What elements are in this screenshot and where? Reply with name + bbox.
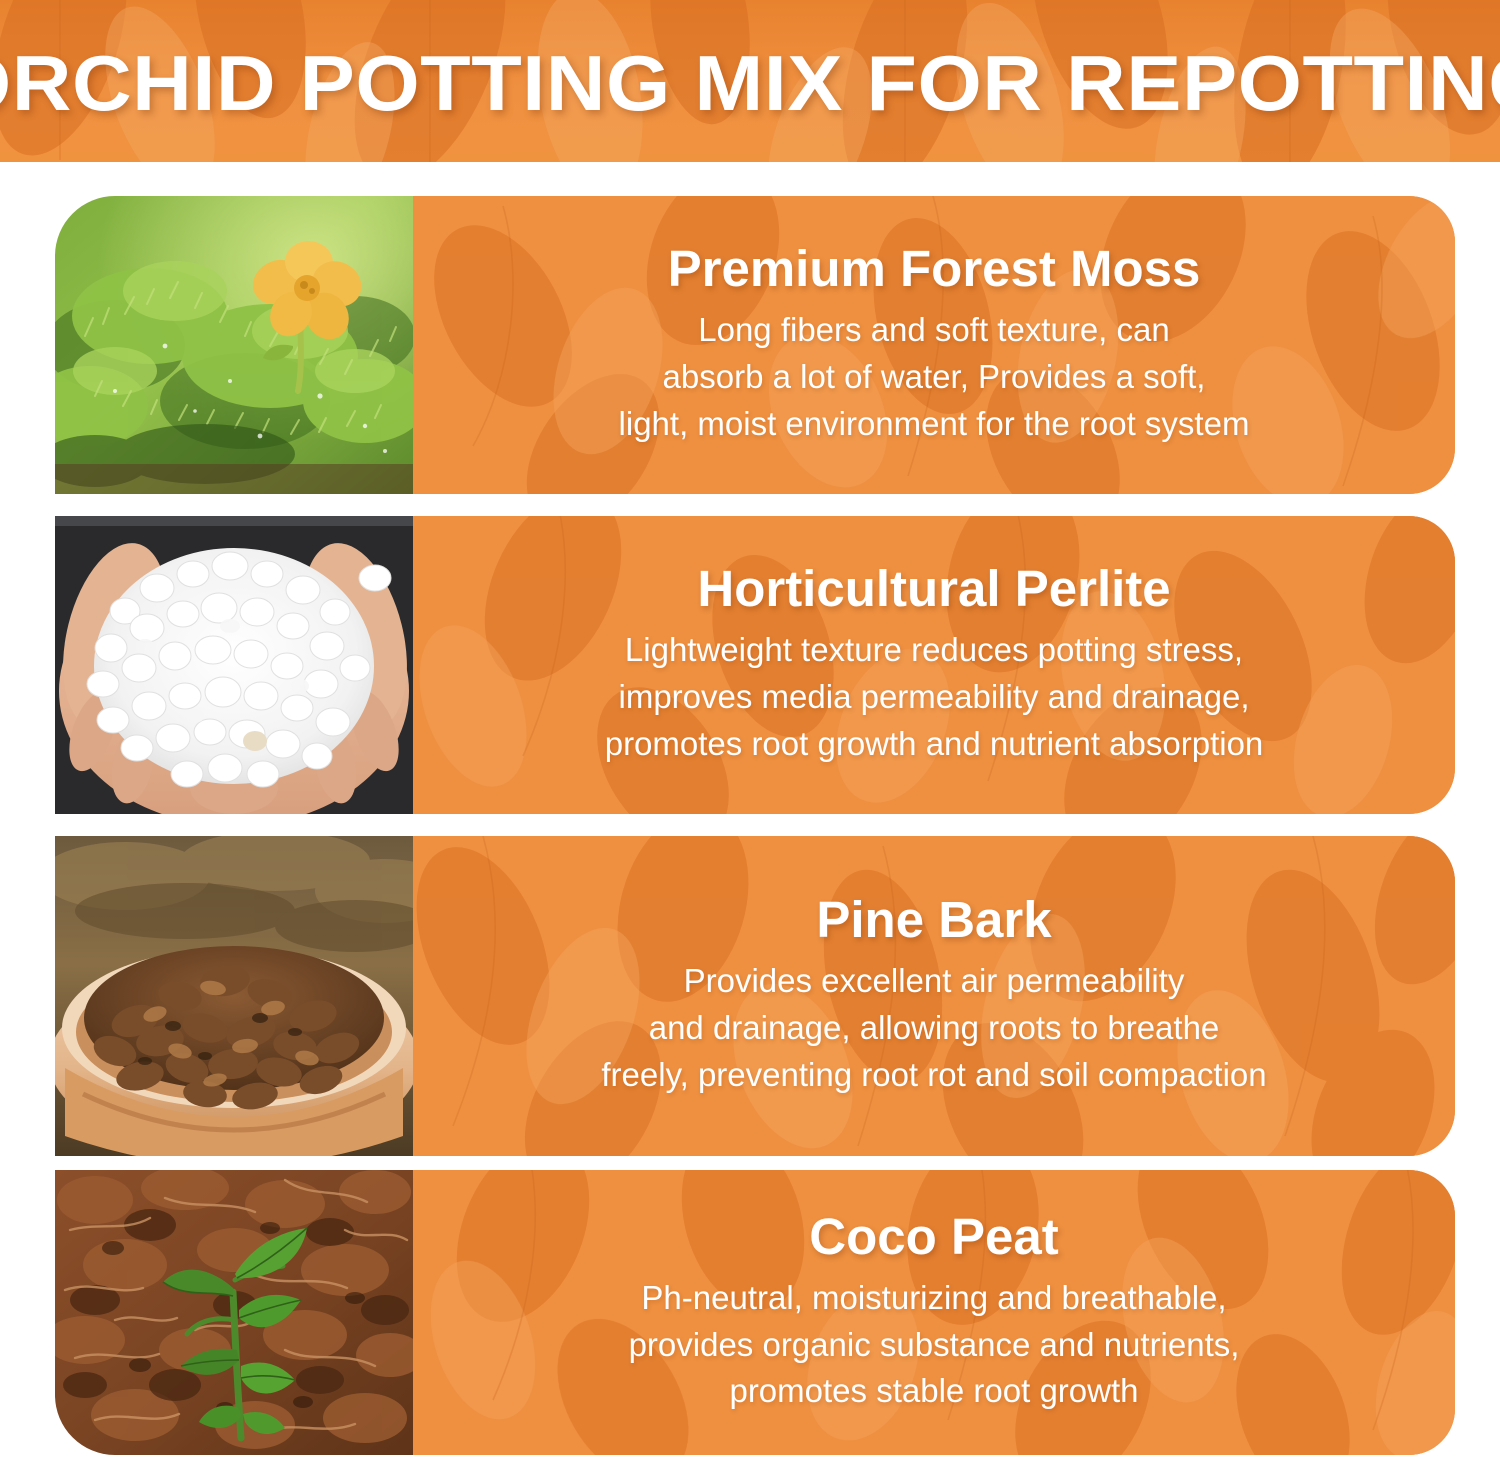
feature-description: Provides excellent air permeability and … bbox=[601, 958, 1266, 1099]
forest-moss-photo bbox=[55, 196, 413, 494]
description-line: freely, preventing root rot and soil com… bbox=[601, 1052, 1266, 1099]
description-line: provides organic substance and nutrients… bbox=[629, 1322, 1240, 1369]
feature-title: Coco Peat bbox=[809, 1210, 1058, 1263]
description-line: and drainage, allowing roots to breathe bbox=[601, 1005, 1266, 1052]
feature-description: Long fibers and soft texture, can absorb… bbox=[619, 307, 1250, 448]
page-title: ORCHID POTTING MIX FOR REPOTTING bbox=[0, 0, 1500, 162]
description-line: improves media permeability and drainage… bbox=[605, 674, 1264, 721]
description-line: Lightweight texture reduces potting stre… bbox=[605, 627, 1264, 674]
feature-row: Pine Bark Provides excellent air permeab… bbox=[0, 836, 1500, 1156]
feature-title: Horticultural Perlite bbox=[697, 562, 1170, 615]
feature-row: Premium Forest Moss Long fibers and soft… bbox=[0, 196, 1500, 494]
feature-title: Pine Bark bbox=[816, 893, 1051, 946]
feature-panel: Horticultural Perlite Lightweight textur… bbox=[413, 516, 1455, 814]
page-header: ORCHID POTTING MIX FOR REPOTTING bbox=[0, 0, 1500, 162]
feature-row: Horticultural Perlite Lightweight textur… bbox=[0, 516, 1500, 814]
description-line: Ph-neutral, moisturizing and breathable, bbox=[629, 1275, 1240, 1322]
pine-bark-photo bbox=[55, 836, 413, 1156]
feature-description: Lightweight texture reduces potting stre… bbox=[605, 627, 1264, 768]
feature-panel: Premium Forest Moss Long fibers and soft… bbox=[413, 196, 1455, 494]
description-line: absorb a lot of water, Provides a soft, bbox=[619, 354, 1250, 401]
perlite-photo bbox=[55, 516, 413, 814]
coco-peat-photo bbox=[55, 1170, 413, 1455]
description-line: Long fibers and soft texture, can bbox=[619, 307, 1250, 354]
feature-panel: Pine Bark Provides excellent air permeab… bbox=[413, 836, 1455, 1156]
feature-description: Ph-neutral, moisturizing and breathable,… bbox=[629, 1275, 1240, 1416]
feature-row: Coco Peat Ph-neutral, moisturizing and b… bbox=[0, 1170, 1500, 1455]
feature-panel: Coco Peat Ph-neutral, moisturizing and b… bbox=[413, 1170, 1455, 1455]
feature-title: Premium Forest Moss bbox=[668, 242, 1201, 295]
description-line: light, moist environment for the root sy… bbox=[619, 401, 1250, 448]
description-line: Provides excellent air permeability bbox=[601, 958, 1266, 1005]
description-line: promotes root growth and nutrient absorp… bbox=[605, 721, 1264, 768]
description-line: promotes stable root growth bbox=[629, 1368, 1240, 1415]
